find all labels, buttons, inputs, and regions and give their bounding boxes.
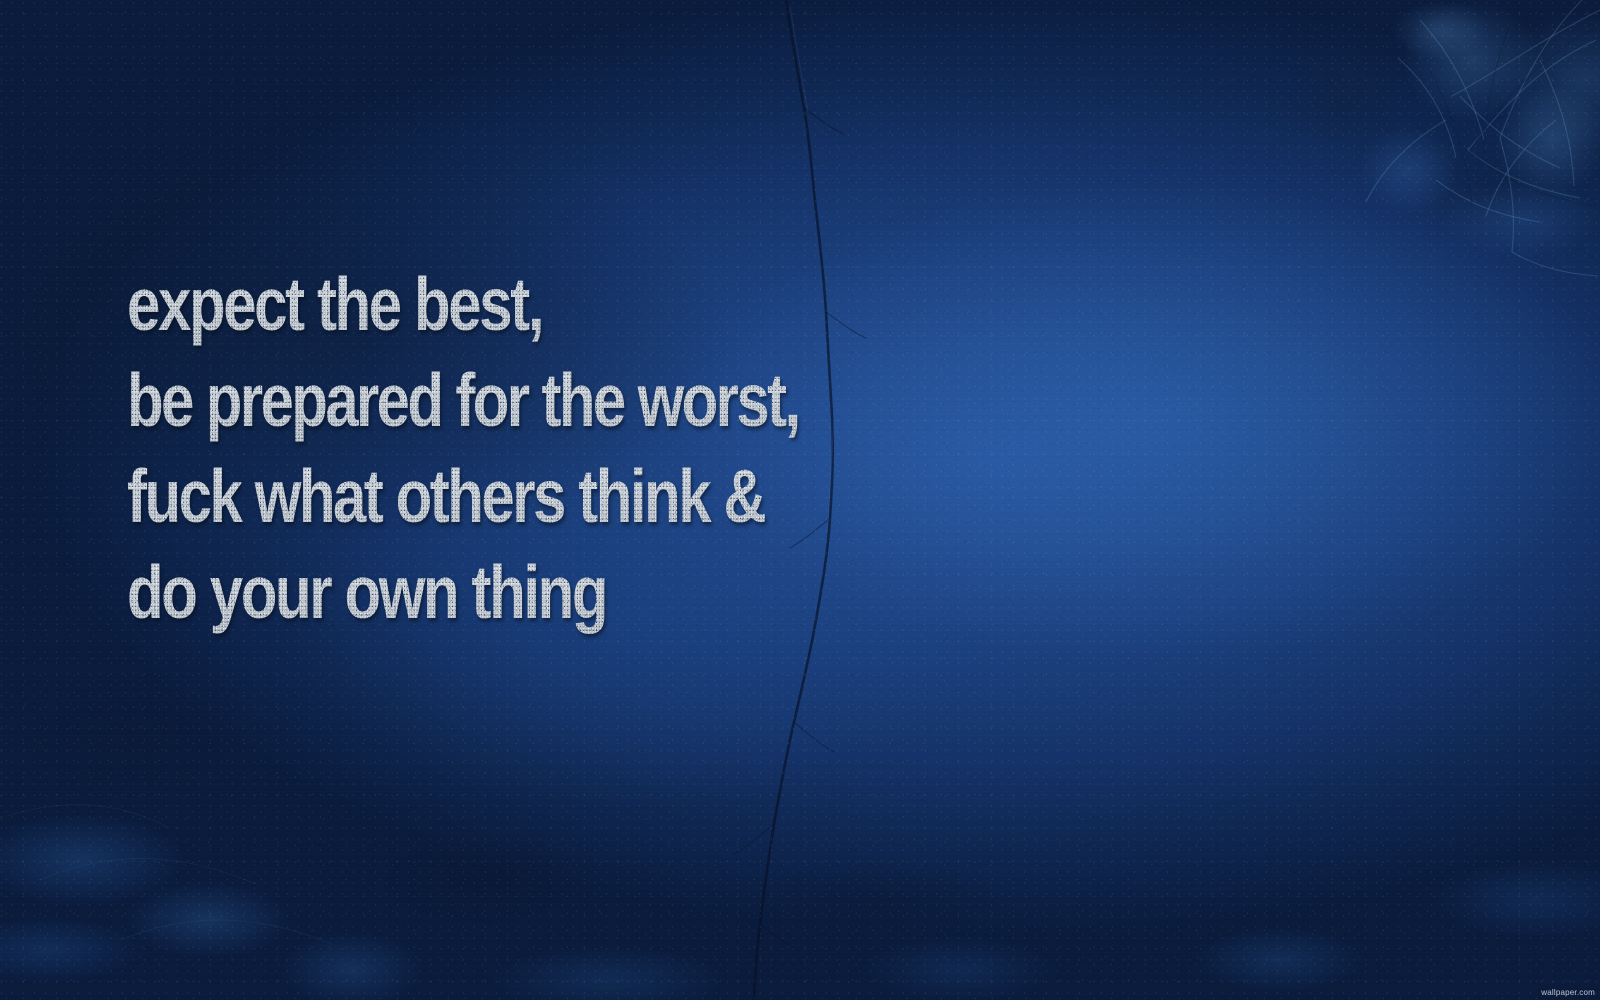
wallpaper-canvas: expect the best, be prepared for the wor…	[0, 0, 1600, 1000]
quote-line-3: fuck what others think &	[127, 448, 1007, 544]
quote-line-1: expect the best,	[127, 256, 1007, 352]
quote-text-block: expect the best, be prepared for the wor…	[127, 256, 1227, 640]
quote-line-2: be prepared for the worst,	[127, 352, 1007, 448]
quote-line-4: do your own thing	[127, 544, 1007, 640]
watermark-label: wallpaper.com	[1538, 987, 1598, 999]
